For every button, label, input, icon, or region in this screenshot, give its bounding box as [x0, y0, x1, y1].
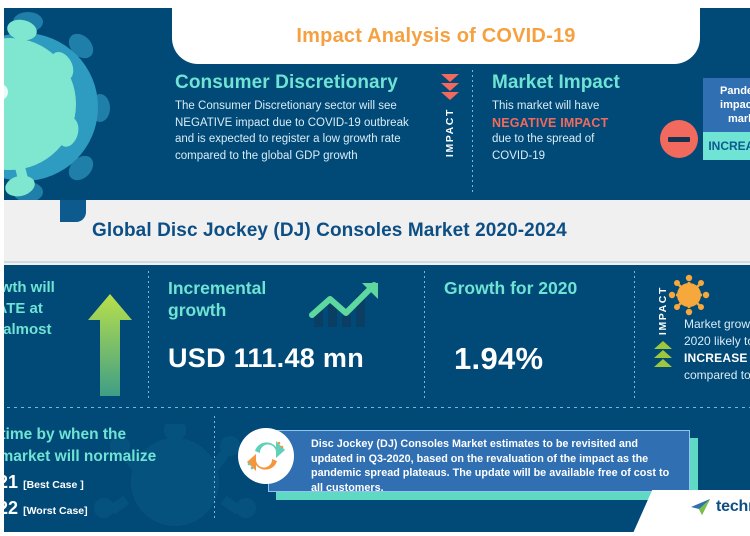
chevron-up-icon	[654, 359, 672, 367]
normalize-lead: Estimated time by when the impact on mar…	[0, 424, 232, 468]
market-title-band: Global Disc Jockey (DJ) Consoles Market …	[0, 200, 750, 265]
right-impact-highlight: INCREASE	[684, 350, 750, 367]
pandemic-impact-heading: Pandemic impact on market	[703, 78, 750, 132]
growth-2020-value: 1.94%	[454, 341, 543, 377]
impact-indicator-right: IMPACT	[648, 286, 678, 398]
market-impact-line3: COVID-19	[492, 148, 657, 165]
frame-left	[0, 0, 4, 536]
chevron-down-icon	[441, 92, 459, 100]
vertical-divider	[214, 416, 215, 520]
technavio-mark-icon	[690, 498, 712, 516]
header-title-pill: Impact Analysis of COVID-19	[172, 8, 700, 64]
up-arrow-icon	[88, 294, 132, 396]
consumer-discretionary-block: Consumer Discretionary The Consumer Disc…	[175, 72, 430, 164]
band-underline	[0, 261, 750, 263]
pandemic-impact-card: Pandemic impact on market INCREASING	[703, 78, 750, 160]
chevron-down-icon	[441, 83, 459, 91]
market-impact-block: Market Impact This market will have NEGA…	[492, 72, 657, 164]
vertical-divider	[424, 271, 425, 400]
incremental-growth-label-line2: growth	[168, 299, 266, 321]
technavio-logo: technavio	[690, 498, 750, 516]
consumer-discretionary-body: The Consumer Discretionary sector will s…	[175, 98, 430, 164]
chevron-up-icon	[654, 350, 672, 358]
market-impact-title: Market Impact	[492, 72, 657, 94]
band-corner-tab	[60, 200, 86, 222]
best-case-tag: [Best Case ]	[23, 479, 84, 491]
right-impact-text: Market growth in 2020 likely to INCREASE…	[684, 316, 750, 384]
market-impact-body: This market will have NEGATIVE IMPACT du…	[492, 98, 657, 164]
normalize-lead-line2: impact on market will normalize	[0, 446, 232, 468]
vertical-divider	[634, 271, 635, 400]
update-note-box: Disc Jockey (DJ) Consoles Market estimat…	[268, 430, 690, 492]
pandemic-impact-status: INCREASING	[703, 132, 750, 160]
frame-top	[0, 0, 750, 8]
growth-2020-label: Growth for 2020	[444, 277, 577, 299]
update-note-text: Disc Jockey (DJ) Consoles Market estimat…	[311, 437, 679, 495]
right-impact-line3: compared to 2019	[684, 367, 750, 384]
chevron-up-icon	[654, 341, 672, 349]
incremental-growth-label-line1: Incremental	[168, 277, 266, 299]
right-impact-line2: 2020 likely to	[684, 333, 750, 350]
logo-text: technavio	[716, 498, 750, 516]
infographic-root: Impact Analysis of COVID-19 Consumer Dis…	[0, 0, 750, 536]
top-impact-panel: Consumer Discretionary The Consumer Disc…	[0, 64, 750, 200]
impact-indicator-left: IMPACT	[432, 70, 468, 192]
right-impact-line1: Market growth in	[684, 316, 750, 333]
impact-label-right: IMPACT	[657, 286, 669, 335]
page-title: Impact Analysis of COVID-19	[296, 25, 575, 48]
growth-chart-icon	[308, 281, 382, 329]
worst-case-tag: [Worst Case]	[23, 505, 88, 517]
consumer-discretionary-title: Consumer Discretionary	[175, 72, 430, 94]
growth-2020-block: Growth for 2020 1.94%	[444, 265, 634, 410]
best-case-row: Q3-2021 [Best Case ]	[0, 472, 84, 493]
normalize-lead-line1: Estimated time by when the	[0, 424, 232, 446]
market-title: Global Disc Jockey (DJ) Consoles Market …	[92, 220, 567, 242]
frame-bottom	[0, 532, 750, 536]
refresh-cycle-icon	[238, 428, 294, 484]
chevron-up-icon-group	[648, 341, 678, 367]
market-impact-highlight: NEGATIVE IMPACT	[492, 115, 657, 132]
incremental-growth-value: USD 111.48 mn	[168, 343, 364, 374]
chevron-down-icon	[441, 74, 459, 82]
market-impact-line2: due to the spread of	[492, 131, 657, 148]
worst-case-row: Q1-2022 [Worst Case]	[0, 498, 88, 519]
impact-label-left: IMPACT	[444, 108, 456, 157]
market-impact-line1: This market will have	[492, 98, 657, 115]
vertical-divider	[148, 271, 149, 400]
chevron-down-icon-group	[432, 74, 468, 100]
vertical-divider	[472, 70, 473, 192]
